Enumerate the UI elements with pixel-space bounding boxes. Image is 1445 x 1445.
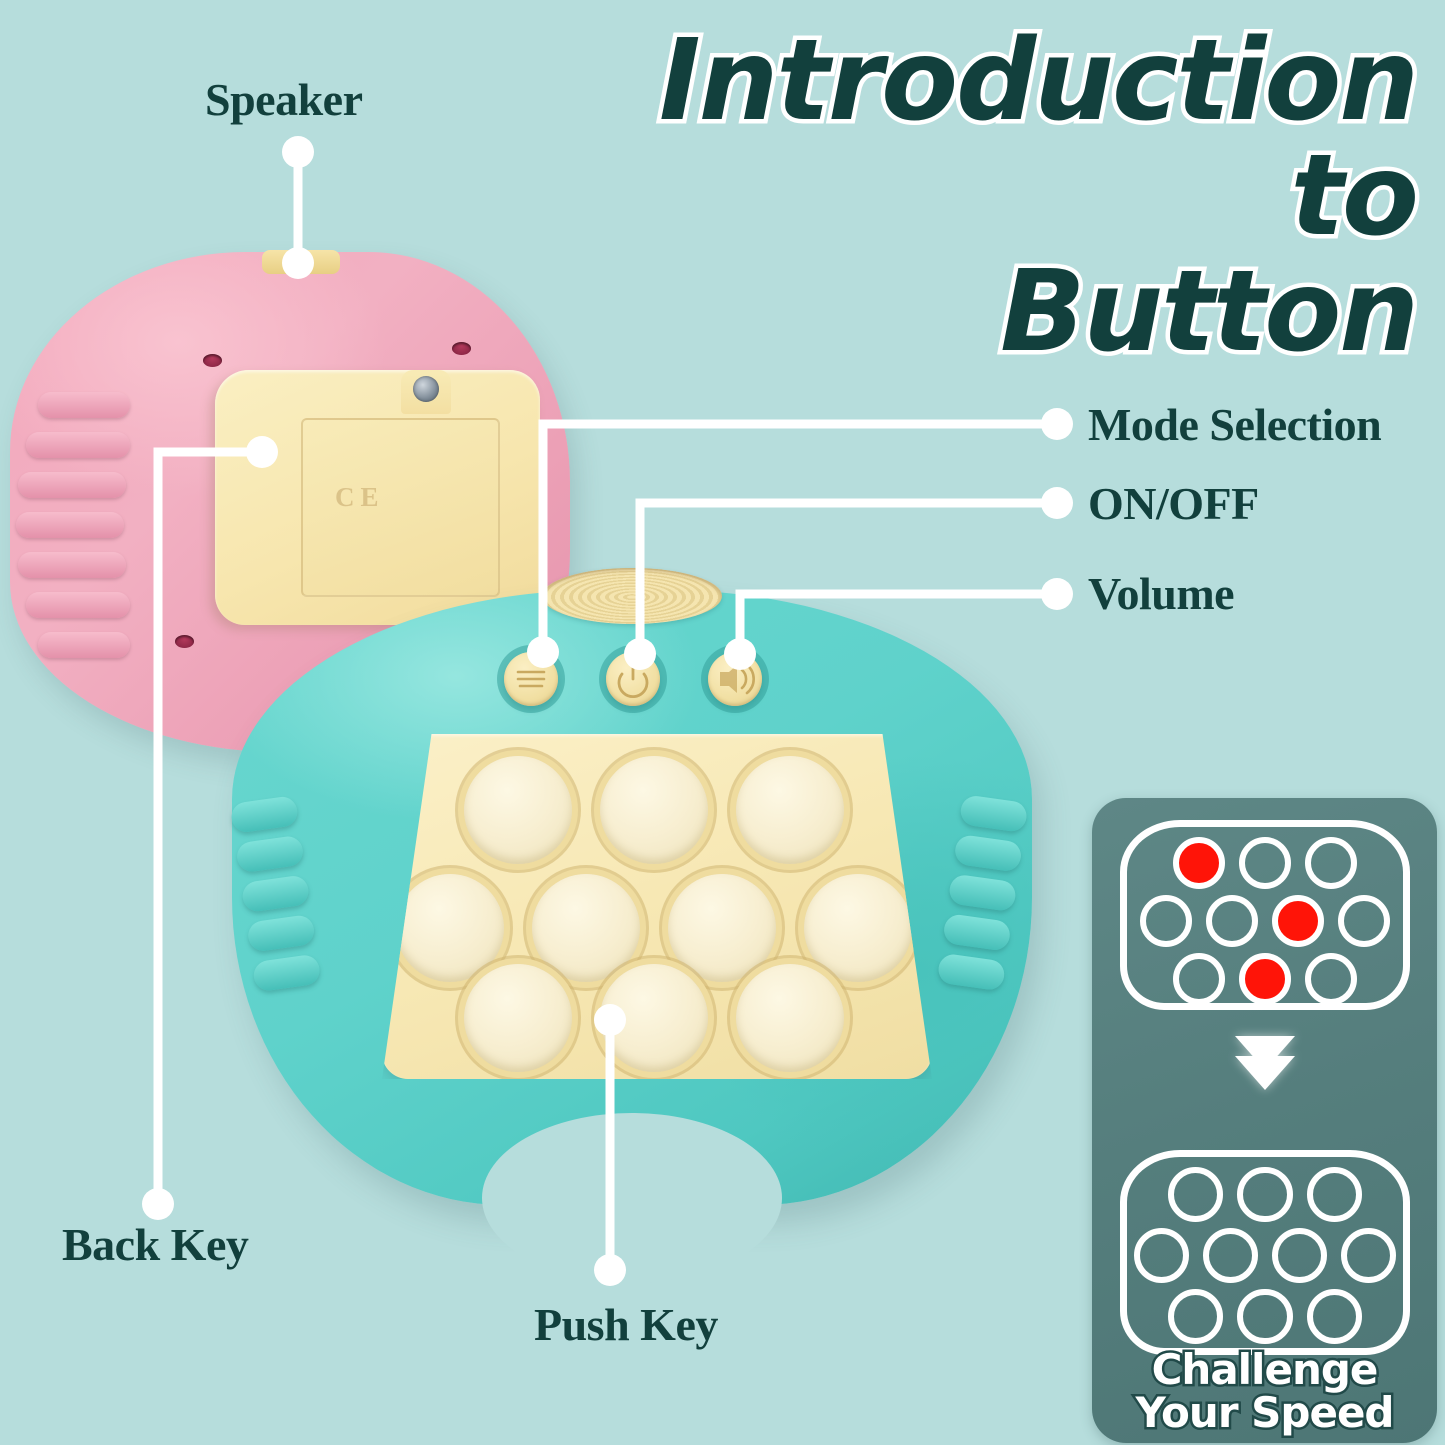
- diagram-cell: [1272, 895, 1324, 947]
- callout-dot-backkey-label: [142, 1188, 174, 1220]
- callout-dot-pushkey-target: [594, 1004, 626, 1036]
- challenge-caption-line-1: Challenge: [1092, 1349, 1437, 1392]
- double-chevron-down-icon: [1092, 1036, 1437, 1090]
- challenge-panel: Challenge Your Speed: [1092, 798, 1437, 1443]
- diagram-cell: [1203, 1228, 1258, 1283]
- diagram-cell: [1338, 895, 1390, 947]
- diagram-cell: [1237, 1167, 1292, 1222]
- diagram-cell: [1140, 895, 1192, 947]
- diagram-cell: [1168, 1167, 1223, 1222]
- callout-dot-volume-label: [1041, 578, 1073, 610]
- diagram-grid-empty: [1120, 1150, 1410, 1355]
- infographic-canvas: CE: [0, 0, 1445, 1445]
- diagram-cell: [1134, 1228, 1189, 1283]
- diagram-cell: [1206, 895, 1258, 947]
- callout-label-mode-selection: Mode Selection: [1088, 398, 1381, 451]
- callout-label-on-off: ON/OFF: [1088, 477, 1259, 530]
- callout-line-volume: [740, 594, 1052, 652]
- callout-dot-onoff-label: [1041, 487, 1073, 519]
- callout-label-speaker: Speaker: [205, 73, 363, 126]
- diagram-cell: [1168, 1289, 1223, 1344]
- callout-dot-backkey-target: [246, 436, 278, 468]
- page-title: Introduction to Button: [497, 24, 1417, 370]
- challenge-caption: Challenge Your Speed: [1092, 1349, 1437, 1435]
- diagram-cell: [1272, 1228, 1327, 1283]
- diagram-cell: [1237, 1289, 1292, 1344]
- callout-dot-onoff-target: [624, 638, 656, 670]
- callout-dot-mode-target: [527, 636, 559, 668]
- diagram-cell: [1305, 953, 1357, 1005]
- callout-dot-speaker-target: [282, 247, 314, 279]
- callout-dot-mode-label: [1041, 408, 1073, 440]
- callout-dot-volume-target: [724, 638, 756, 670]
- callout-dot-pushkey-label: [594, 1254, 626, 1286]
- diagram-grid-lit: [1120, 820, 1410, 1010]
- diagram-cell: [1305, 837, 1357, 889]
- diagram-cell: [1239, 837, 1291, 889]
- callout-dot-speaker-label: [282, 136, 314, 168]
- diagram-cell: [1239, 953, 1291, 1005]
- callout-label-back-key: Back Key: [62, 1218, 248, 1271]
- callout-label-volume: Volume: [1088, 567, 1234, 620]
- diagram-cell: [1341, 1228, 1396, 1283]
- page-title-line-2: Button: [497, 255, 1417, 370]
- callout-line-back-key: [158, 452, 262, 1202]
- callout-label-push-key: Push Key: [534, 1298, 718, 1351]
- page-title-line-1: Introduction to: [497, 24, 1417, 255]
- diagram-cell: [1307, 1289, 1362, 1344]
- callout-line-mode-selection: [543, 424, 1052, 650]
- callout-line-on-off: [640, 503, 1052, 652]
- challenge-caption-line-2: Your Speed: [1092, 1392, 1437, 1435]
- diagram-cell: [1173, 953, 1225, 1005]
- diagram-cell: [1307, 1167, 1362, 1222]
- diagram-cell: [1173, 837, 1225, 889]
